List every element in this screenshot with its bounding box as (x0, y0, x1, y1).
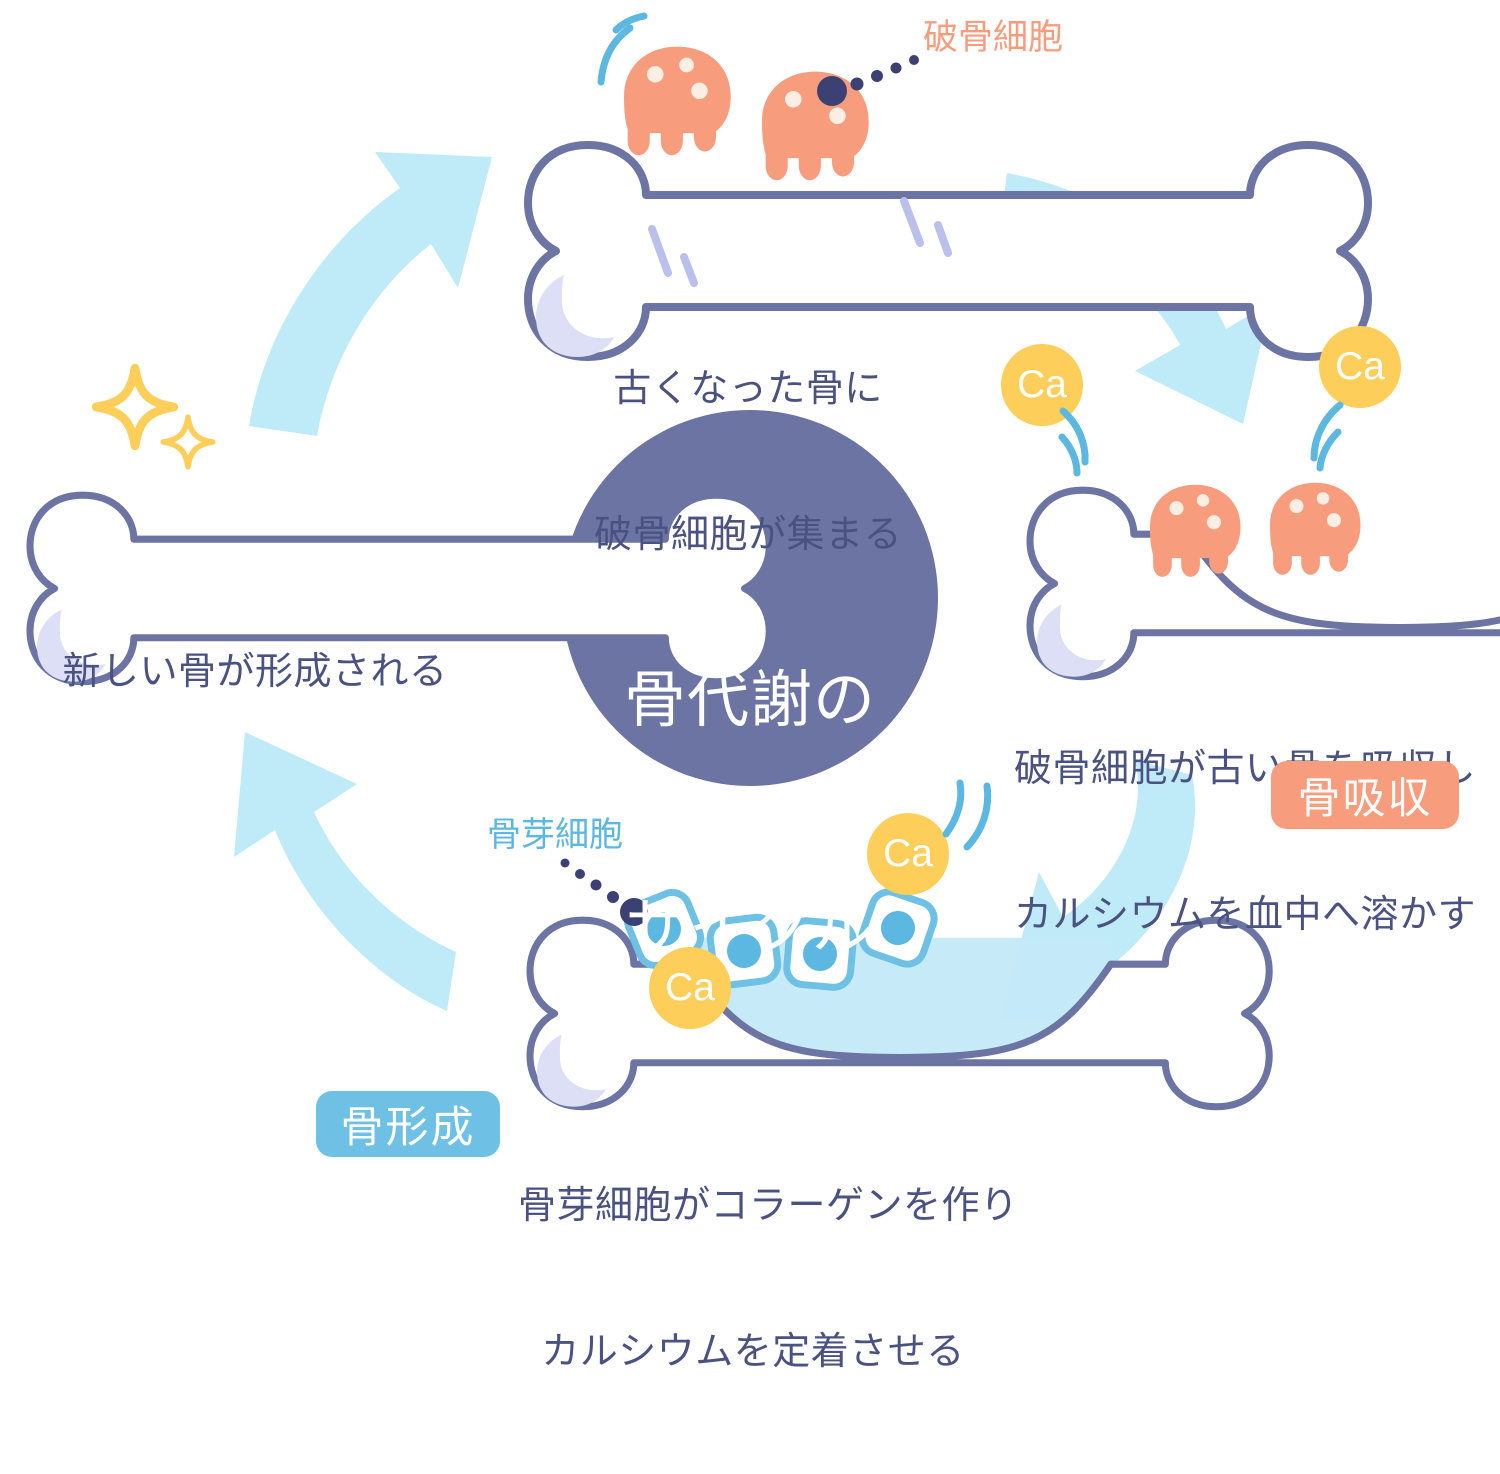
step-3-caption: 骨芽細胞がコラーゲンを作り カルシウムを定着させる (518, 1085, 988, 1474)
ca-label-right-1: Ca (1017, 360, 1067, 410)
osteoblast-callout-label: 骨芽細胞 (487, 814, 623, 858)
badge-bone-formation: 骨形成 (316, 1091, 500, 1157)
step-3-caption-line1: 骨芽細胞がコラーゲンを作り (518, 1182, 988, 1231)
ca-label-right-2: Ca (1335, 342, 1385, 392)
center-title-line2: サイクル (560, 890, 940, 966)
step-1-caption-line2: 破骨細胞が集まる (558, 511, 938, 560)
center-title-line1: 骨代謝の (560, 663, 940, 739)
sparkle-large (96, 368, 174, 446)
step-1-caption: 古くなった骨に 破骨細胞が集まる (558, 268, 938, 657)
arrow-bottom-to-left (234, 732, 456, 1011)
osteoclast-callout-label: 破骨細胞 (923, 16, 1063, 61)
diagram-canvas: 骨代謝の サイクル 古くなった骨に 破骨細胞が集まる 破骨細胞 破骨細胞が古い骨… (0, 0, 1500, 1200)
arrow-left-to-top (249, 152, 492, 436)
step-4-caption: 新しい骨が形成される (40, 648, 470, 697)
osteoclast-leader-line (817, 55, 919, 106)
step-1-caption-line1: 古くなった骨に (558, 365, 938, 414)
step-3-caption-line2: カルシウムを定着させる (518, 1328, 988, 1377)
ca-label-bottom-2: Ca (883, 829, 933, 879)
step-2-caption: 破骨細胞が古い骨を吸収し カルシウムを血中へ溶かす (1010, 648, 1480, 1037)
step-2-caption-line2: カルシウムを血中へ溶かす (1010, 891, 1480, 940)
badge-bone-resorption: 骨吸収 (1271, 761, 1459, 829)
ca-label-bottom-1: Ca (665, 963, 715, 1013)
sparkle-small (163, 417, 213, 467)
